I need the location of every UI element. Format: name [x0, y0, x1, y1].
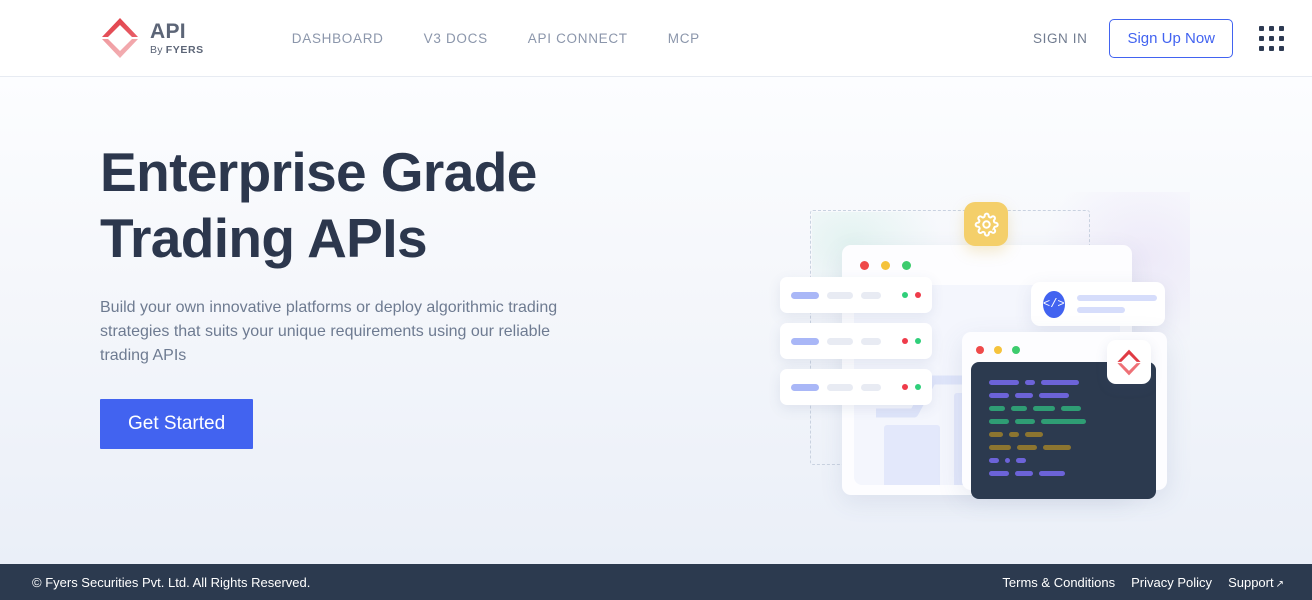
external-link-icon: ↗: [1276, 579, 1284, 590]
footer-link-support[interactable]: Support↗: [1228, 575, 1284, 590]
traffic-light-green: [1012, 346, 1020, 354]
window-traffic-lights: [860, 261, 911, 270]
code-line: [989, 406, 1156, 411]
row-label-pill: [791, 292, 819, 299]
hero-section: Enterprise Grade Trading APIs Build your…: [0, 77, 1312, 564]
code-line: [989, 471, 1156, 476]
list-item: [780, 369, 932, 405]
row-value-pill: [827, 384, 853, 391]
row-value-pill: [861, 384, 881, 391]
status-dot-green: [915, 338, 921, 344]
row-label-pill: [791, 338, 819, 345]
chart-bar: [884, 425, 940, 485]
gear-icon: [974, 212, 999, 237]
status-dot-green: [915, 384, 921, 390]
traffic-light-red: [860, 261, 869, 270]
chip-placeholder-lines: [1077, 295, 1157, 313]
hero-illustration: </>: [780, 182, 1190, 527]
apps-dot: [1269, 26, 1274, 31]
status-dot-red: [902, 338, 908, 344]
apps-dot: [1259, 46, 1264, 51]
row-status-dots: [902, 292, 921, 298]
nav-item-dashboard[interactable]: DASHBOARD: [292, 31, 384, 46]
footer-links: Terms & Conditions Privacy Policy Suppor…: [1002, 575, 1284, 590]
code-line: [989, 419, 1156, 424]
list-item: [780, 323, 932, 359]
hero-copy: Enterprise Grade Trading APIs Build your…: [100, 139, 620, 449]
nav-item-v3-docs[interactable]: V3 DOCS: [424, 31, 488, 46]
apps-dot: [1259, 36, 1264, 41]
chip-line: [1077, 307, 1125, 313]
list-item: [780, 277, 932, 313]
status-dot-red: [902, 384, 908, 390]
hero-inner: Enterprise Grade Trading APIs Build your…: [0, 77, 1312, 564]
code-line: [989, 445, 1156, 450]
apps-dot: [1269, 36, 1274, 41]
get-started-button[interactable]: Get Started: [100, 399, 253, 449]
nav-item-api-connect[interactable]: API CONNECT: [528, 31, 628, 46]
headline-line-2: Trading APIs: [100, 207, 427, 269]
row-status-dots: [902, 384, 921, 390]
editor-traffic-lights: [976, 346, 1020, 354]
header-actions: SIGN IN Sign Up Now: [1033, 19, 1284, 58]
traffic-light-yellow: [994, 346, 1002, 354]
site-footer: © Fyers Securities Pvt. Ltd. All Rights …: [0, 564, 1312, 600]
primary-nav: DASHBOARD V3 DOCS API CONNECT MCP: [292, 31, 700, 46]
grid-apps-icon[interactable]: [1259, 26, 1284, 51]
traffic-light-red: [976, 346, 984, 354]
apps-dot: [1259, 26, 1264, 31]
brand-logo[interactable]: API By FYERS: [100, 17, 204, 59]
brand-sub-name: FYERS: [166, 44, 204, 56]
status-dot-red: [915, 292, 921, 298]
brand-text: API By FYERS: [150, 21, 204, 56]
fyers-diamond-logo-icon: [1116, 349, 1142, 376]
traffic-light-yellow: [881, 261, 890, 270]
copyright-text: © Fyers Securities Pvt. Ltd. All Rights …: [32, 575, 310, 590]
code-brackets-icon: </>: [1043, 291, 1065, 318]
nav-item-mcp[interactable]: MCP: [668, 31, 700, 46]
row-status-dots: [902, 338, 921, 344]
apps-dot: [1269, 46, 1274, 51]
sign-in-link[interactable]: SIGN IN: [1033, 31, 1087, 46]
apps-dot: [1279, 46, 1284, 51]
fyers-diamond-logo-icon: [100, 17, 140, 59]
row-value-pill: [861, 292, 881, 299]
sign-up-button[interactable]: Sign Up Now: [1109, 19, 1233, 58]
footer-link-privacy-policy[interactable]: Privacy Policy: [1131, 575, 1212, 590]
chip-line: [1077, 295, 1157, 301]
row-value-pill: [827, 338, 853, 345]
row-value-pill: [861, 338, 881, 345]
brand-title: API: [150, 21, 204, 42]
code-snippet-chip: </>: [1031, 282, 1165, 326]
page-root: API By FYERS DASHBOARD V3 DOCS API CONNE…: [0, 0, 1312, 600]
brand-subtitle: By FYERS: [150, 45, 204, 56]
page-title: Enterprise Grade Trading APIs: [100, 139, 620, 271]
apps-dot: [1279, 36, 1284, 41]
hero-subcopy: Build your own innovative platforms or d…: [100, 296, 590, 368]
apps-dot: [1279, 26, 1284, 31]
headline-line-1: Enterprise Grade: [100, 141, 537, 203]
traffic-light-green: [902, 261, 911, 270]
footer-link-terms-and-conditions[interactable]: Terms & Conditions: [1002, 575, 1115, 590]
row-label-pill: [791, 384, 819, 391]
brand-sub-prefix: By: [150, 44, 163, 56]
row-value-pill: [827, 292, 853, 299]
code-line: [989, 458, 1156, 463]
status-dot-green: [902, 292, 908, 298]
code-line: [989, 393, 1156, 398]
fyers-logo-badge: [1107, 340, 1151, 384]
gear-tile: [964, 202, 1008, 246]
code-line: [989, 432, 1156, 437]
footer-link-support-label: Support: [1228, 575, 1274, 590]
data-row-cards: [780, 277, 932, 415]
site-header: API By FYERS DASHBOARD V3 DOCS API CONNE…: [0, 0, 1312, 77]
code-editor-window: [962, 332, 1167, 490]
